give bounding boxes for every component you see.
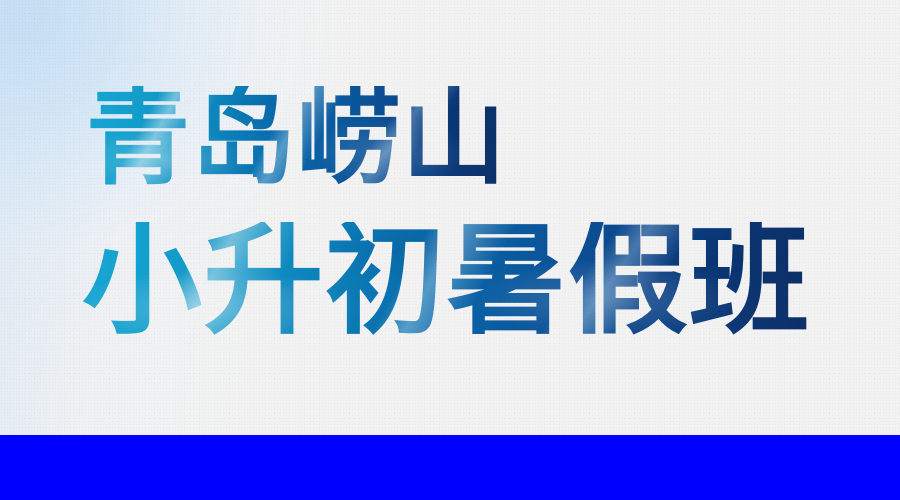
headline-line-1: 青岛崂山 [86,86,507,190]
headline-line-2-text: 小升初暑假班 [82,222,811,342]
headline-line-1-text: 青岛崂山 [86,86,507,190]
headline-line-2: 小升初暑假班 [82,222,811,342]
bottom-blue-bar [0,435,900,500]
promo-banner: 青岛崂山 小升初暑假班 [0,0,900,500]
